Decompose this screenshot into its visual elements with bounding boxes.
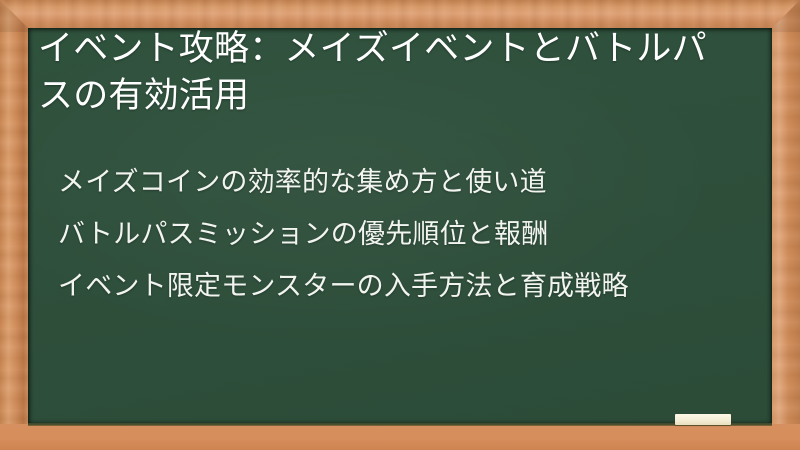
slide-bullet-list: メイズコインの効率的な集め方と使い道 バトルパスミッションの優先順位と報酬 イベ… <box>58 156 738 312</box>
list-item: バトルパスミッションの優先順位と報酬 <box>58 208 738 260</box>
frame-left-rail <box>0 0 30 450</box>
chalkboard-slide: イベント攻略：メイズイベントとバトルパスの有効活用 メイズコインの効率的な集め方… <box>0 0 800 450</box>
list-item: メイズコインの効率的な集め方と使い道 <box>58 156 738 208</box>
frame-bottom-ledge <box>0 424 800 450</box>
frame-right-rail <box>770 0 800 450</box>
board-bottom-edge <box>28 423 772 426</box>
list-item: イベント限定モンスターの入手方法と育成戦略 <box>58 260 738 312</box>
slide-title: イベント攻略：メイズイベントとバトルパスの有効活用 <box>38 26 728 119</box>
chalk-stick-icon <box>675 414 731 425</box>
